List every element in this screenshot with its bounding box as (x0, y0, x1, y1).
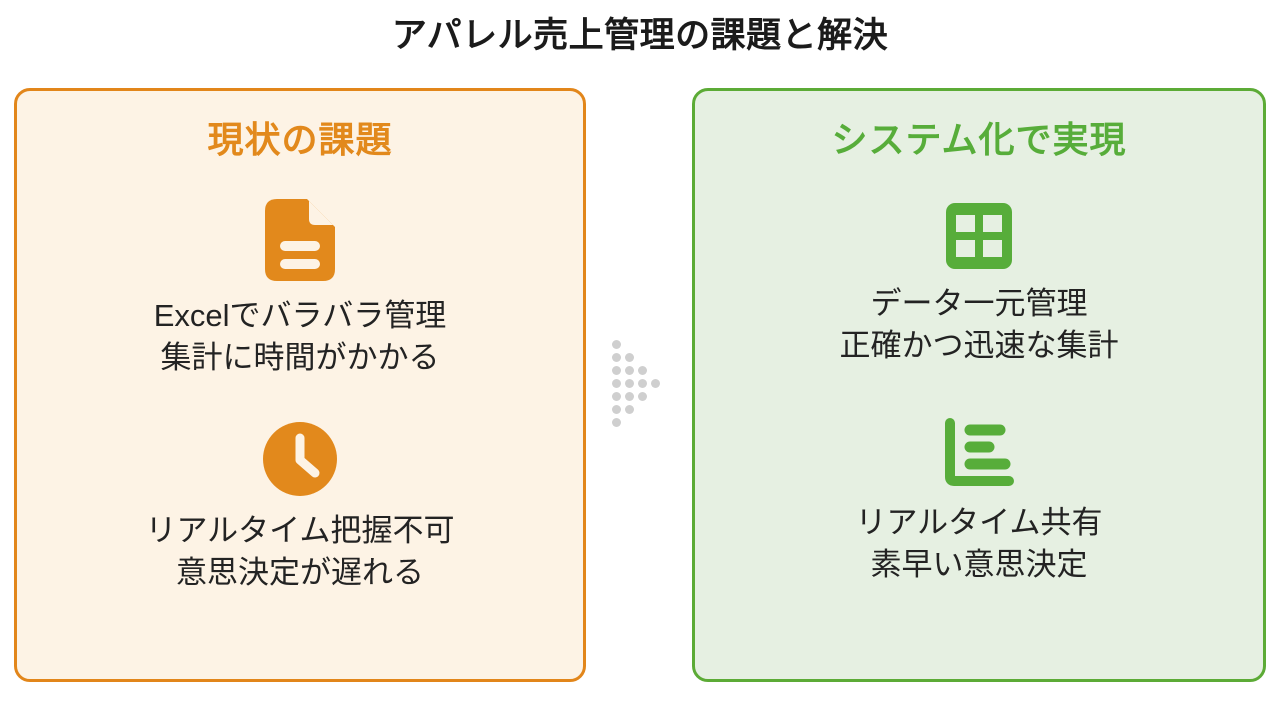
issue-item-excel-line-2: 集計に時間がかかる (154, 337, 447, 379)
issue-item-realtime-line-2: 意思決定が遅れる (145, 552, 454, 594)
panel-current-issues: 現状の課題 Excelでバラバラ管理 集計に時間がかかる リアルタイム把握不可 … (14, 88, 586, 682)
benefit-item-share-line-2: 素早い意思決定 (855, 544, 1102, 586)
document-icon (265, 199, 335, 281)
benefit-item-share-line-1: リアルタイム共有 (855, 502, 1102, 544)
issue-item-realtime-text: リアルタイム把握不可 意思決定が遅れる (145, 510, 454, 594)
benefit-item-data-text: データ一元管理 正確かつ迅速な集計 (840, 283, 1119, 367)
clock-icon (263, 422, 337, 496)
panel-heading-current-issues: 現状の課題 (207, 118, 392, 161)
benefit-item-data: データ一元管理 正確かつ迅速な集計 (840, 203, 1119, 367)
dotted-arrow-right-icon (612, 340, 668, 410)
issue-item-excel-text: Excelでバラバラ管理 集計に時間がかかる (154, 295, 447, 379)
page-title: アパレル売上管理の課題と解決 (0, 14, 1280, 58)
benefit-item-data-line-1: データ一元管理 (840, 283, 1119, 325)
bar-chart-icon (943, 418, 1015, 488)
issue-item-realtime-line-1: リアルタイム把握不可 (145, 510, 454, 552)
benefit-item-data-line-2: 正確かつ迅速な集計 (840, 325, 1119, 367)
table-grid-icon (946, 203, 1012, 269)
benefit-item-share: リアルタイム共有 素早い意思決定 (855, 418, 1102, 586)
panel-heading-system-benefits: システム化で実現 (832, 118, 1127, 161)
issue-item-excel: Excelでバラバラ管理 集計に時間がかかる (154, 199, 447, 379)
issue-item-realtime: リアルタイム把握不可 意思決定が遅れる (145, 422, 454, 594)
issue-item-excel-line-1: Excelでバラバラ管理 (154, 295, 447, 337)
benefit-item-share-text: リアルタイム共有 素早い意思決定 (855, 502, 1102, 586)
panel-system-benefits: システム化で実現 データ一元管理 正確かつ迅速な集計 (692, 88, 1266, 682)
